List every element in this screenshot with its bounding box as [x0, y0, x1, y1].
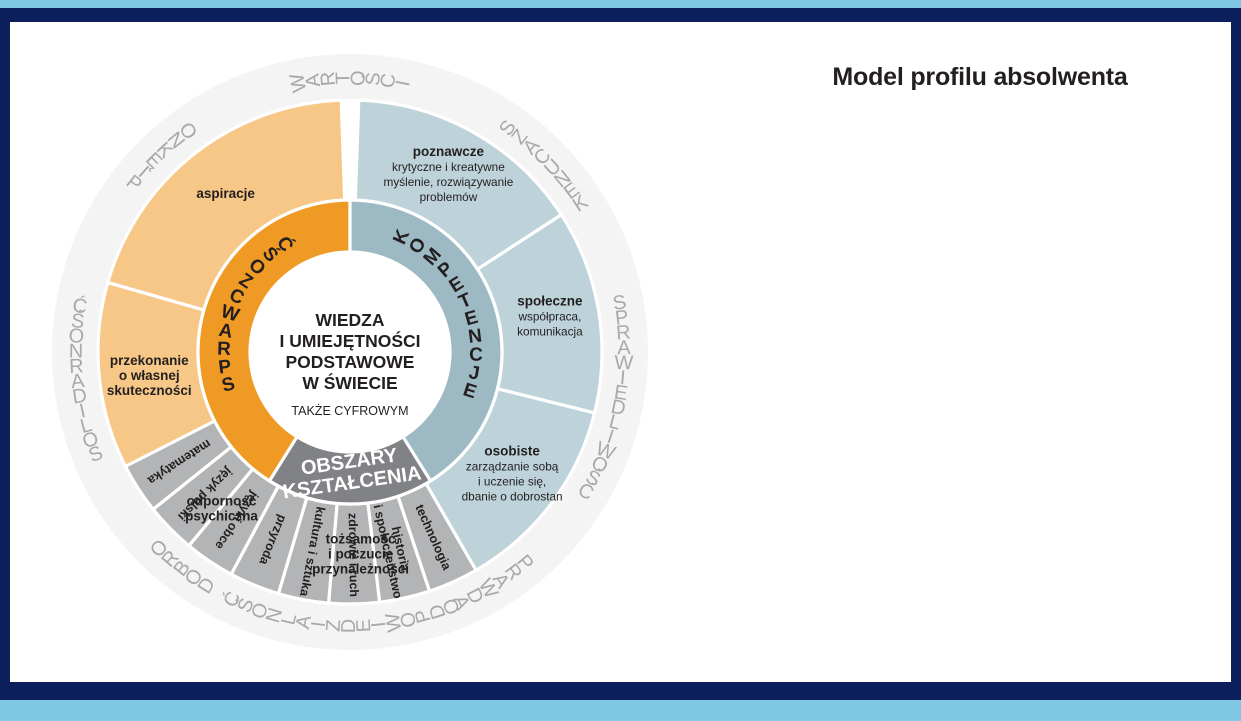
segment-label-sprawczosc-0: aspiracje: [196, 186, 255, 201]
core-subline: TAKŻE CYFROWYM: [291, 404, 408, 418]
slide-canvas: WIEDZAI UMIEJĘTNOŚCIPODSTAWOWEW ŚWIECIET…: [10, 22, 1231, 682]
page-title: Model profilu absolwenta: [750, 62, 1210, 92]
profile-wheel: WIEDZAI UMIEJĘTNOŚCIPODSTAWOWEW ŚWIECIET…: [20, 22, 720, 682]
profile-wheel-svg: WIEDZAI UMIEJĘTNOŚCIPODSTAWOWEW ŚWIECIET…: [20, 22, 720, 682]
slide-frame: WIEDZAI UMIEJĘTNOŚCIPODSTAWOWEW ŚWIECIET…: [0, 8, 1241, 700]
title-block: Model profilu absolwenta: [750, 62, 1210, 92]
segment-label-obszary-5: zdrowie i ruch: [346, 513, 361, 597]
segment-label-sprawczosc-1: przekonanieo własnejskuteczności: [107, 353, 192, 398]
svg-text:zdrowie i ruch: zdrowie i ruch: [346, 513, 361, 597]
segment-label-kompetencje-1: społecznewspółpraca,komunikacja: [517, 294, 583, 339]
